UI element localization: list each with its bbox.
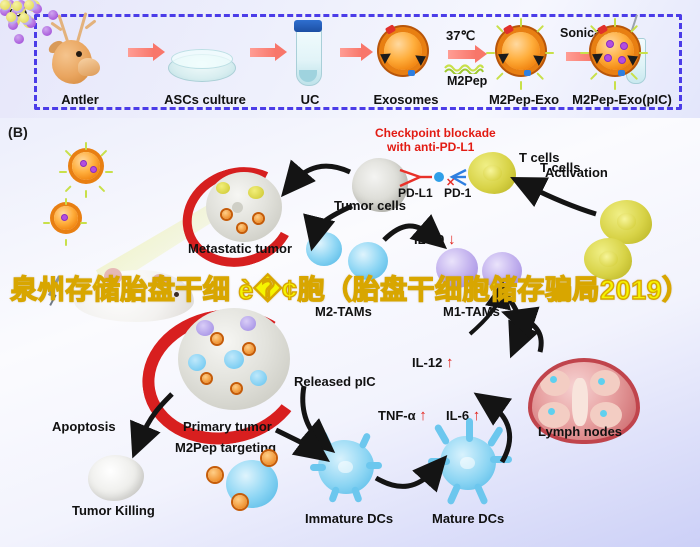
exosome-particle: [212, 334, 222, 344]
caption-m2pep-exo-pic: M2Pep-Exo(pIC): [552, 92, 692, 107]
t-cell-nucleus: [599, 251, 617, 267]
exosome-particle: [232, 384, 241, 393]
dc-dendrite: [358, 432, 371, 449]
t-cell-nucleus: [617, 213, 637, 230]
tumor-infiltrating-cell: [196, 320, 214, 336]
cytokine-il-6-direction: ↑: [473, 408, 481, 423]
label-primary-tumor: Primary tumor: [183, 419, 272, 434]
peptide-strand: [43, 222, 50, 224]
mature-dendritic-cell: [440, 436, 496, 490]
peptide-strand: [630, 72, 638, 80]
label-pd-l1: PD-L1: [398, 186, 433, 200]
dc-dendrite: [433, 423, 450, 446]
cytokine-tnf-alpha: TNF-α ↑: [378, 408, 427, 423]
peptide-strand: [85, 142, 87, 150]
dc-dendrite: [328, 486, 340, 503]
label-immature-dcs: Immature DCs: [305, 511, 393, 526]
tumor-infiltrating-cell: [250, 370, 267, 386]
cytokine-il-10-label: IL-10: [414, 232, 444, 247]
dc-dendrite: [310, 464, 326, 471]
tumor-infiltrating-cell: [188, 354, 206, 371]
tumor-cell: [248, 186, 264, 199]
encapsulated-pic: [606, 40, 614, 48]
injected-exosome: [60, 140, 116, 196]
lymph-node-lobe: [590, 370, 620, 396]
dc-dendrite: [428, 458, 450, 465]
cytokine-il-6: IL-6 ↑: [446, 408, 480, 423]
encapsulated-pic: [61, 214, 68, 221]
lymph-node-hilum: [572, 378, 588, 426]
encapsulated-pic: [604, 54, 612, 62]
exosome-particle: [222, 210, 231, 219]
peptide-strand: [59, 171, 67, 173]
label-mature-dcs: Mature DCs: [432, 511, 504, 526]
peptide-strand: [580, 52, 589, 54]
m2-tam-cell: [306, 232, 342, 266]
watermark-text: 泉州存储胎盘干细 è�¢胞（胎盘干细胞储存骗局2019）: [0, 268, 700, 307]
exosome-particle: [208, 468, 222, 482]
tumor-cell: [216, 182, 230, 194]
pd-ligand-dot: [434, 172, 444, 182]
label-t-cells-caption: T cells: [519, 150, 559, 165]
cytokine-il-10-direction: ↓: [448, 232, 456, 247]
encapsulated-pic: [80, 160, 87, 167]
exosome-particle: [254, 214, 263, 223]
dc-dendrite: [351, 486, 363, 503]
lymphocyte: [598, 378, 605, 385]
peptide-strand: [105, 171, 113, 173]
cytokine-tnf-alpha-label: TNF-α: [378, 408, 416, 423]
dc-dendrite: [490, 456, 512, 463]
label-checkpoint-blockade: Checkpoint blockade: [375, 126, 496, 140]
peptide-strand: [614, 18, 616, 27]
dc-dendrite: [487, 425, 505, 447]
dc-dendrite: [446, 482, 461, 505]
dc-nucleus: [460, 457, 475, 470]
dc-nucleus: [338, 461, 353, 474]
label-apoptosis: Apoptosis: [52, 419, 116, 434]
peptide-strand: [100, 150, 107, 157]
cytokine-il-12-label: IL-12: [412, 355, 442, 370]
exosome-particle: [238, 224, 246, 232]
peptide-strand: [65, 239, 67, 246]
lymphocyte: [600, 410, 607, 417]
apoptotic-body: [88, 455, 144, 501]
m2pep-exosome-pic-illustration: [582, 18, 652, 88]
t-cell: [468, 152, 516, 194]
exosome-particle: [202, 374, 211, 383]
label-activation: Activation: [545, 165, 608, 180]
peptide-strand: [65, 185, 72, 192]
peptide-strand: [98, 185, 105, 192]
exosome-blue-protein: [618, 70, 625, 76]
t-cell-nucleus: [483, 165, 501, 181]
label-checkpoint-blockade-line2: with anti-PD-L1: [387, 140, 474, 154]
exosome-core: [596, 32, 634, 70]
label-metastatic-tumor: Metastatic tumor: [188, 241, 292, 256]
cytokine-tnf-alpha-direction: ↑: [419, 408, 427, 423]
peptide-strand: [614, 81, 616, 90]
encapsulated-pic: [618, 56, 626, 64]
dc-dendrite: [366, 462, 382, 469]
encapsulated-pic: [90, 166, 97, 173]
dc-dendrite: [473, 482, 488, 505]
tumor-infiltrating-cell: [240, 316, 256, 331]
tumor-mass: [206, 172, 282, 242]
label-tumor-killing: Tumor Killing: [72, 503, 155, 518]
tumor-cell: [232, 202, 243, 213]
immature-dendritic-cell: [318, 440, 374, 494]
dc-dendrite: [466, 418, 473, 442]
label-pd-1: PD-1: [444, 186, 471, 200]
encapsulated-pic: [620, 42, 628, 50]
label-lymph-nodes: Lymph nodes: [538, 424, 622, 439]
lymphocyte: [550, 376, 557, 383]
exosome-particle: [244, 344, 254, 354]
label-m2pep-targeting: M2Pep targeting: [175, 440, 276, 455]
cytokine-il-10: IL-10 ↓: [414, 232, 455, 247]
exosome-particle: [262, 451, 276, 465]
exosome-particle: [233, 495, 247, 509]
lymph-node-lobe: [540, 370, 570, 396]
cytokine-il-12: IL-12 ↑: [412, 355, 453, 370]
peptide-strand: [65, 150, 72, 157]
peptide-strand: [65, 198, 67, 205]
scientific-figure: (A) Antler ASCs culture UC: [0, 0, 700, 547]
lymphocyte: [548, 408, 555, 415]
injected-exosome: [44, 196, 92, 244]
peptide-strand: [630, 25, 638, 33]
peptide-strand: [590, 72, 598, 80]
dc-dendrite: [319, 430, 333, 449]
peptide-strand: [80, 222, 87, 224]
label-tumor-cells: Tumor cells: [334, 198, 406, 213]
tumor-infiltrating-cell: [224, 350, 244, 369]
panel-b-label: (B): [8, 124, 28, 140]
cytokine-il-12-direction: ↑: [446, 355, 454, 370]
tumor-mass: [178, 308, 290, 410]
peptide-strand: [639, 52, 648, 54]
label-released-pic: Released pIC: [294, 374, 376, 389]
